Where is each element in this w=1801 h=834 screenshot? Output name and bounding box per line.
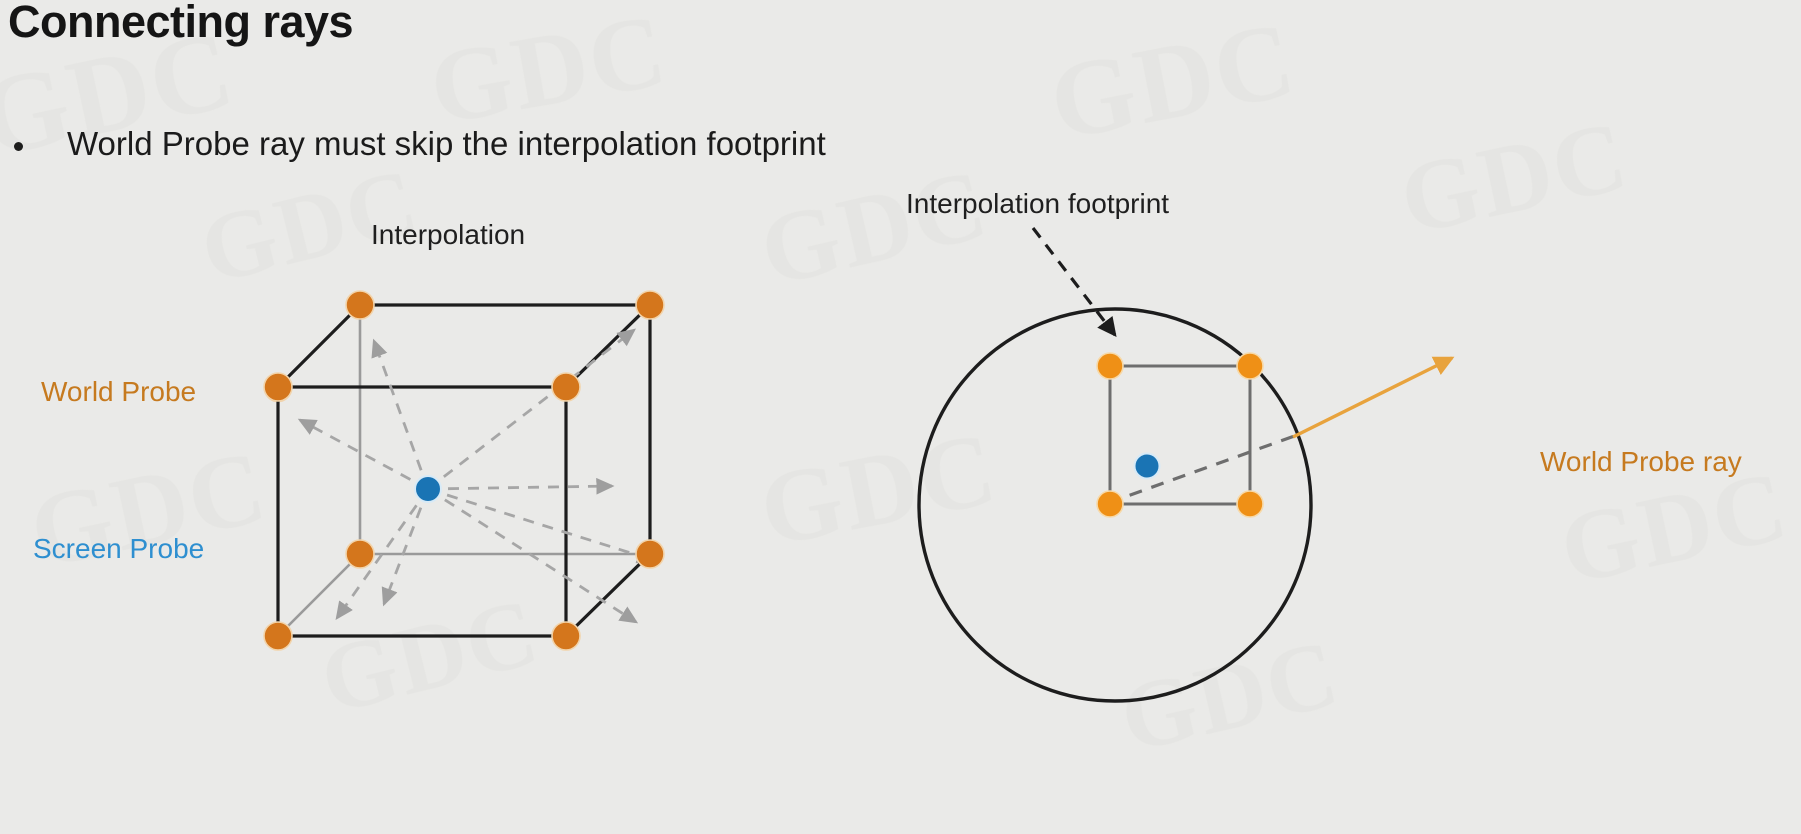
watermark-text: GDC — [751, 408, 1006, 570]
world-probe-ray-dashed — [1108, 434, 1300, 503]
cube-corner-dots — [264, 291, 664, 650]
world-probe-dot — [264, 622, 292, 650]
cube-visible-edges — [278, 305, 650, 636]
label-world-probe-ray: World Probe ray — [1540, 446, 1742, 478]
world-probe-dot — [552, 373, 580, 401]
world-probe-dot — [346, 291, 374, 319]
legend-swatch-screen-probe — [416, 477, 441, 502]
watermark-text: GDC — [310, 575, 550, 736]
watermark-text: GDC — [20, 427, 277, 593]
cube-interpolation-rays — [300, 330, 653, 622]
caption-interpolation: Interpolation — [371, 219, 525, 251]
world-probe-dot — [1237, 353, 1263, 379]
world-probe-dot — [1237, 491, 1263, 517]
legend-swatch-world-probe — [265, 375, 292, 402]
probe-sphere-circle — [919, 309, 1311, 701]
slide-canvas: GDC GDC GDC GDC GDC GDC GDC GDC GDC GDC … — [0, 0, 1801, 834]
world-probe-dot — [264, 373, 292, 401]
legend-label-screen-probe: Screen Probe — [33, 533, 204, 565]
cube-diagram — [264, 291, 664, 650]
world-probe-dot — [346, 540, 374, 568]
watermark-text: GDC — [1040, 0, 1305, 166]
footprint-diagram — [919, 228, 1452, 701]
world-probe-dot — [552, 622, 580, 650]
page-title: Connecting rays — [8, 0, 353, 48]
bullet-marker-icon — [14, 142, 23, 151]
watermark-text: GDC — [1391, 98, 1638, 258]
screen-probe-dot — [415, 476, 441, 502]
cube-hidden-edges — [278, 305, 650, 636]
footprint-corner-dots — [1097, 353, 1263, 517]
world-probe-ray-arrow — [1293, 358, 1452, 437]
watermark-text: GDC — [1110, 617, 1349, 774]
legend-label-world-probe: World Probe — [41, 376, 196, 408]
world-probe-dot — [636, 291, 664, 319]
world-probe-dot — [1097, 353, 1123, 379]
footprint-pointer-arrow — [1033, 228, 1115, 335]
world-probe-dot — [1097, 491, 1123, 517]
bullet-list-item: World Probe ray must skip the interpolat… — [14, 124, 826, 164]
watermark-text: GDC — [750, 146, 998, 309]
footprint-square — [1110, 366, 1250, 504]
world-probe-dot — [636, 540, 664, 568]
bullet-item-text: World Probe ray must skip the interpolat… — [67, 124, 826, 164]
caption-interpolation-footprint: Interpolation footprint — [906, 188, 1169, 220]
screen-probe-dot — [1135, 454, 1160, 479]
